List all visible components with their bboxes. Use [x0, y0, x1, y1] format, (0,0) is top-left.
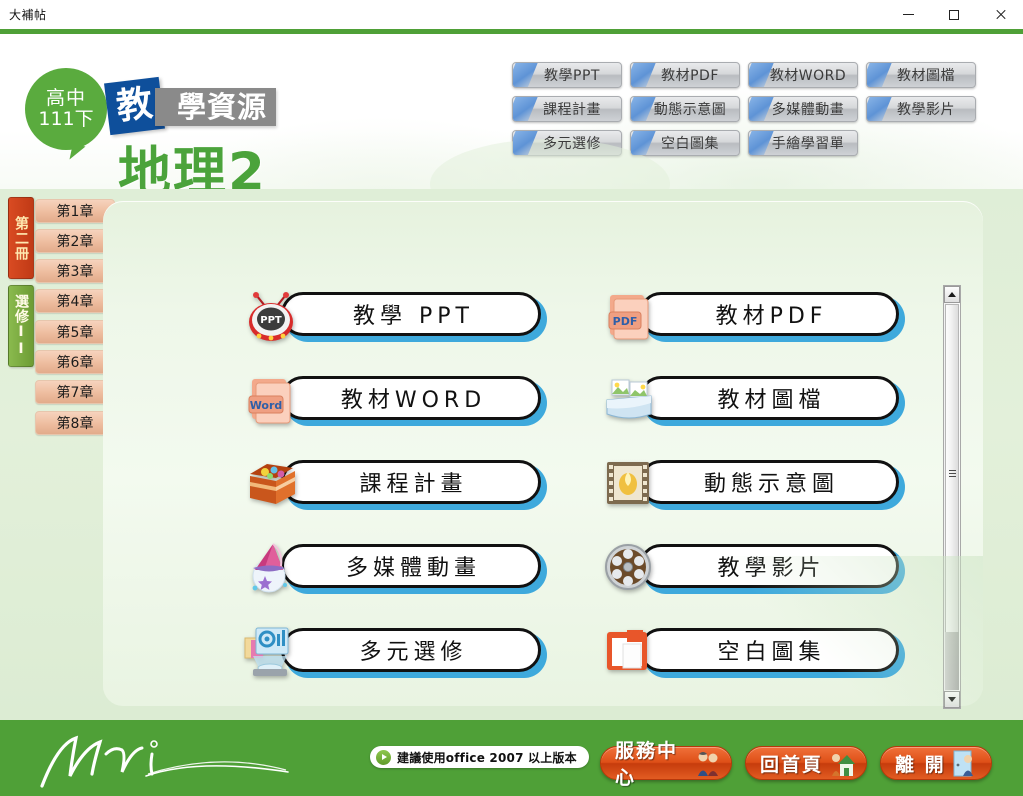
vertical-scrollbar[interactable]	[943, 285, 961, 709]
window-title: 大補帖	[9, 6, 47, 23]
quick-button-label: 手繪學習單	[762, 133, 845, 153]
resource-item-blank-gallery: 空白圖集	[601, 622, 931, 682]
staff-icon	[695, 749, 721, 777]
page-title: 地理2	[118, 146, 267, 189]
scroll-down-arrow[interactable]	[944, 691, 960, 708]
triangle-down-icon	[948, 697, 956, 702]
quick-button-handdrawn-worksheet[interactable]: 手繪學習單	[748, 130, 858, 156]
quick-button-label: 動態示意圖	[644, 99, 727, 119]
quick-button-images[interactable]: 教材圖檔	[866, 62, 976, 88]
resource-button[interactable]: 教材圖檔	[639, 376, 899, 420]
quick-button-curriculum[interactable]: 課程計畫	[512, 96, 622, 122]
resource-button[interactable]: 課程計畫	[281, 460, 541, 504]
resource-label: 空白圖集	[712, 634, 825, 666]
quick-button-label: 教學PPT	[534, 65, 600, 85]
grade-badge-line1: 高中	[46, 88, 86, 109]
home-button[interactable]: 回首頁	[745, 746, 867, 780]
resource-item-multimedia: 多媒體動畫	[243, 538, 573, 598]
office-note-text: 建議使用office 2007 以上版本	[397, 749, 577, 766]
resource-item-images: 教材圖檔	[601, 370, 931, 430]
svg-text:PDF: PDF	[613, 315, 638, 328]
volume-tab-elective2[interactable]: 選修II	[8, 285, 34, 367]
grade-badge-line2: 111下	[38, 109, 93, 130]
resource-button[interactable]: 教學 PPT	[281, 292, 541, 336]
resource-button[interactable]: 教材WORD	[281, 376, 541, 420]
quick-button-ppt[interactable]: 教學PPT	[512, 62, 622, 88]
exit-label: 離 開	[895, 750, 946, 777]
title-bar: 大補帖	[0, 0, 1023, 29]
film-reel-icon	[601, 538, 657, 596]
resource-label: 教材PDF	[711, 298, 828, 330]
quick-button-label: 多元選修	[533, 133, 601, 153]
close-icon	[995, 9, 1006, 20]
resource-item-pdf: PDF 教材PDF	[601, 286, 931, 346]
scroll-up-arrow[interactable]	[944, 286, 960, 303]
svg-text:PPT: PPT	[260, 315, 282, 326]
triangle-up-icon	[948, 292, 956, 297]
resource-label: 課程計畫	[354, 466, 467, 498]
resource-panel: PPT 教學 PPT PDF 教材P	[103, 201, 983, 706]
resource-label: 動態示意圖	[699, 466, 839, 498]
word-folder-icon: Word	[243, 370, 299, 428]
resource-item-ppt: PPT 教學 PPT	[243, 286, 573, 346]
chapter-sidebar: 第二冊 選修II 第1章 第2章 第3章 第4章 第5章 第6章 第7章 第8章	[0, 189, 120, 439]
resource-label: 多媒體動畫	[341, 550, 481, 582]
scrollbar-grip-icon	[949, 470, 956, 478]
logo-mark-text: 教	[114, 86, 154, 126]
resource-item-elective: 多元選修	[243, 622, 573, 682]
close-button[interactable]	[977, 0, 1023, 29]
play-icon	[376, 750, 391, 765]
quick-button-elective[interactable]: 多元選修	[512, 130, 622, 156]
house-icon	[829, 749, 855, 777]
resource-button[interactable]: 教材PDF	[639, 292, 899, 336]
resource-button[interactable]: 多媒體動畫	[281, 544, 541, 588]
quick-button-grid: 教學PPT 教材PDF 教材WORD 教材圖檔 課程計畫 動態示意圖 多媒體動畫…	[512, 62, 984, 156]
exit-button[interactable]: 離 開	[880, 746, 992, 780]
magic-hat-icon	[243, 538, 299, 596]
svg-text:Word: Word	[250, 399, 283, 412]
resource-button[interactable]: 空白圖集	[639, 628, 899, 672]
resource-label: 教學 PPT	[348, 298, 474, 330]
scrollbar-track-bottom[interactable]	[945, 632, 959, 690]
quick-button-multimedia[interactable]: 多媒體動畫	[748, 96, 858, 122]
minimize-button[interactable]	[885, 0, 931, 29]
window-controls	[885, 0, 1023, 29]
resource-button[interactable]: 多元選修	[281, 628, 541, 672]
home-label: 回首頁	[760, 750, 823, 777]
volume-tab-book2[interactable]: 第二冊	[8, 197, 34, 279]
resource-label: 多元選修	[354, 634, 467, 666]
maximize-button[interactable]	[931, 0, 977, 29]
quick-button-label: 教材WORD	[760, 65, 846, 85]
quick-button-label: 教材圖檔	[887, 65, 955, 85]
resource-item-word: Word 教材WORD	[243, 370, 573, 430]
image-box-icon	[601, 370, 657, 428]
scrollbar-thumb[interactable]	[945, 304, 959, 644]
resource-item-animation-diagram: 動態示意圖	[601, 454, 931, 514]
quick-button-label: 多媒體動畫	[762, 99, 845, 119]
quick-button-label: 課程計畫	[533, 99, 601, 119]
grade-badge: 高中 111下	[25, 68, 107, 150]
resource-item-video: 教學影片	[601, 538, 931, 598]
ppt-tv-icon: PPT	[243, 286, 299, 344]
header-banner: 高中 111下 教 學資源 地理2 教學PPT 教材PDF 教材WORD 教材圖…	[0, 34, 1023, 189]
office-version-note: 建議使用office 2007 以上版本	[370, 746, 589, 768]
content-stage: 第二冊 選修II 第1章 第2章 第3章 第4章 第5章 第6章 第7章 第8章	[0, 189, 1023, 720]
logo-bar: 學資源	[155, 88, 276, 126]
quick-button-label: 教材PDF	[651, 65, 719, 85]
quick-button-animation-diagram[interactable]: 動態示意圖	[630, 96, 740, 122]
treasure-box-icon	[243, 454, 299, 512]
resource-label: 教材WORD	[336, 382, 486, 414]
quick-button-pdf[interactable]: 教材PDF	[630, 62, 740, 88]
quick-button-label: 空白圖集	[651, 133, 719, 153]
resource-label: 教學影片	[712, 550, 825, 582]
application-window: 大補帖 高中 111下 教 學資源 地理2 教學PPT 教材PDF 教材WORD…	[0, 0, 1023, 796]
maximize-icon	[949, 10, 959, 20]
resource-button-grid: PPT 教學 PPT PDF 教材P	[243, 286, 963, 682]
quick-button-video[interactable]: 教學影片	[866, 96, 976, 122]
resource-label: 教材圖檔	[712, 382, 825, 414]
minimize-icon	[903, 14, 914, 15]
exit-door-icon	[952, 749, 978, 777]
service-center-label: 服務中心	[615, 736, 689, 790]
quick-button-label: 教學影片	[887, 99, 955, 119]
pdf-folder-icon: PDF	[601, 286, 657, 344]
quick-button-word[interactable]: 教材WORD	[748, 62, 858, 88]
resource-item-curriculum: 課程計畫	[243, 454, 573, 514]
film-strip-icon	[601, 454, 657, 512]
quick-button-blank-gallery[interactable]: 空白圖集	[630, 130, 740, 156]
projector-icon	[243, 622, 299, 680]
logo-bar-text: 學資源	[177, 93, 267, 122]
service-center-button[interactable]: 服務中心	[600, 746, 732, 780]
resource-button[interactable]: 動態示意圖	[639, 460, 899, 504]
blank-page-icon	[601, 622, 657, 680]
resource-button[interactable]: 教學影片	[639, 544, 899, 588]
nani-logo	[28, 728, 308, 790]
